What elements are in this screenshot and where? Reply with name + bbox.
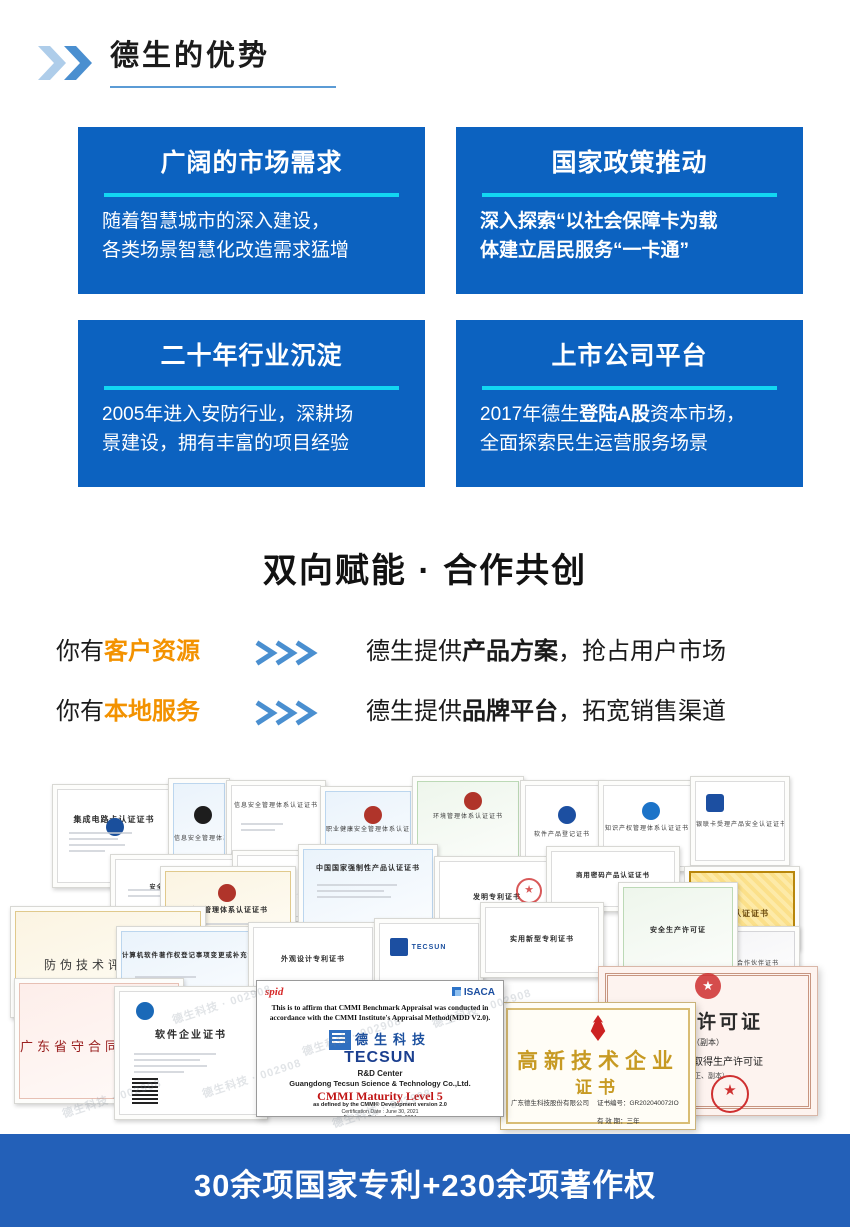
section-header: 德生的优势 <box>0 34 850 94</box>
certificate-title: 环境管理体系认证证书 <box>418 811 518 820</box>
hitech-validity-label: 有 效 期： <box>597 1118 627 1125</box>
synergy-right-prefix: 德生提供 <box>366 638 462 665</box>
cmmi-affirm-line: This is to affirm that CMMI Benchmark Ap… <box>265 1003 495 1013</box>
triple-chevron-icon <box>253 692 353 732</box>
certificate-title: 职业健康安全管理体系认证证书 <box>326 824 410 833</box>
certificate-title: 中国国家强制性产品认证证书 <box>304 863 432 873</box>
synergy-right-bold: 产品方案 <box>462 638 558 665</box>
card-title: 国家政策推动 <box>456 147 803 179</box>
cmmi-rd-center: R&D Center <box>257 1069 503 1078</box>
certificate-collage: 集成电路卡认证证书 信息安全管理体系认证证书 信息安全管理体系认证证书 职业健康… <box>0 770 850 1134</box>
card-title: 上市公司平台 <box>456 340 803 372</box>
synergy-left-prefix: 你有 <box>56 698 104 725</box>
certificate-title: 软件产品登记证书 <box>526 829 598 838</box>
hitech-enterprise-certificate: 高新技术企业 证书 广东德生科技股份有限公司 证书编号：GR202040072I… <box>500 1002 696 1130</box>
cmmi-exp-date: Expiration Date : June 30, 2024 <box>257 1115 503 1117</box>
certificate-title: 银联卡受理产品安全认证证书 <box>696 819 784 828</box>
hitech-title-line1: 高新技术企业 <box>501 1045 695 1075</box>
synergy-left-highlight: 客户资源 <box>104 638 200 665</box>
tecsun-brand-en: TECSUN <box>257 1049 503 1067</box>
bottom-banner: 30余项国家专利+230余项著作权 <box>0 1134 850 1227</box>
synergy-title: 双向赋能 · 合作共创 <box>0 543 850 592</box>
synergy-right-suffix: ，抢占用户市场 <box>558 638 726 665</box>
isaca-label: ISACA <box>464 987 495 998</box>
cmmi-certificate: spid ISACA This is to affirm that CMMI B… <box>256 980 504 1117</box>
advantage-card-grid: 广阔的市场需求 随着智慧城市的深入建设， 各类场景智慧化改造需求猛增 国家政策推… <box>78 127 772 465</box>
card-body-line: 全面探索民生运营服务场景 <box>480 429 783 458</box>
triple-chevron-icon <box>253 632 353 672</box>
banner-text: 30余项国家专利+230余项著作权 <box>0 1160 850 1205</box>
certificate-title: 软件企业证书 <box>120 1026 262 1041</box>
synergy-row: 你有本地服务 德生提供品牌平台，拓宽销售渠道 <box>0 692 850 732</box>
card-body-text: 资本市场， <box>650 404 745 425</box>
title-underline <box>110 86 336 88</box>
certificate-title: 商用密码产品认证证书 <box>552 870 674 879</box>
certificate-title: 外观设计专利证书 <box>254 954 372 964</box>
advantage-card: 广阔的市场需求 随着智慧城市的深入建设， 各类场景智慧化改造需求猛增 <box>78 127 425 294</box>
cmmi-dates: Certification Date : June 30, 2021 Expir… <box>257 1109 503 1117</box>
certificate-tile: 软件企业证书 <box>114 986 268 1120</box>
card-title: 广阔的市场需求 <box>78 147 425 179</box>
card-body: 深入探索“以社会保障卡为载 体建立居民服务“一卡通” <box>480 207 783 265</box>
advantage-card: 二十年行业沉淀 2005年进入安防行业，深耕场 景建设，拥有丰富的项目经验 <box>78 320 425 487</box>
card-title: 二十年行业沉淀 <box>78 340 425 372</box>
synergy-right-suffix: ，拓宽销售渠道 <box>558 698 726 725</box>
certificate-title: 安全生产许可证 <box>624 925 732 935</box>
advantage-card: 国家政策推动 深入探索“以社会保障卡为载 体建立居民服务“一卡通” <box>456 127 803 294</box>
hitech-validity-value: 三年 <box>627 1118 640 1125</box>
hitech-cert-no: 证书编号：GR202040072IO <box>597 1099 679 1109</box>
card-body-text: 2017年德生 <box>480 404 579 425</box>
card-body-line: 2017年德生登陆A股资本市场， <box>480 400 783 429</box>
synergy-left-prefix: 你有 <box>56 638 104 665</box>
certificate-tile: 实用新型专利证书 <box>480 902 604 978</box>
card-divider <box>482 386 777 390</box>
synergy-right-prefix: 德生提供 <box>366 698 462 725</box>
chevron-group <box>36 44 104 82</box>
isaca-mark-icon <box>452 987 461 996</box>
certificate-tile: 银联卡受理产品安全认证证书 <box>690 776 790 866</box>
card-body: 2017年德生登陆A股资本市场， 全面探索民生运营服务场景 <box>480 400 783 458</box>
card-body-line: 随着智慧城市的深入建设， <box>102 207 405 236</box>
card-divider <box>104 193 399 197</box>
card-divider <box>482 193 777 197</box>
synergy-left-highlight: 本地服务 <box>104 698 200 725</box>
tecsun-brand: 德生科技 TECSUN <box>257 1029 503 1067</box>
hitech-cert-no-value: GR202040072IO <box>630 1100 679 1107</box>
spid-logo: spid <box>265 986 283 998</box>
advantage-card: 上市公司平台 2017年德生登陆A股资本市场， 全面探索民生运营服务场景 <box>456 320 803 487</box>
card-body-line: 深入探索“以社会保障卡为载 <box>480 207 783 236</box>
card-body: 随着智慧城市的深入建设， 各类场景智慧化改造需求猛增 <box>102 207 405 265</box>
certificate-title: 信息安全管理体系认证证书 <box>232 800 320 809</box>
synergy-right: 德生提供产品方案，抢占用户市场 <box>366 632 726 672</box>
card-body-line: 2005年进入安防行业，深耕场 <box>102 400 405 429</box>
hitech-company: 广东德生科技股份有限公司 <box>511 1099 589 1109</box>
card-body-line: 各类场景智慧化改造需求猛增 <box>102 236 405 265</box>
cmmi-affirmation: This is to affirm that CMMI Benchmark Ap… <box>265 1003 495 1023</box>
card-divider <box>104 386 399 390</box>
certificate-title: 计算机软件著作权登记事项变更或补充证明 <box>122 950 250 959</box>
certificate-tile: 安全生产许可证 <box>618 882 738 978</box>
tecsun-logo-icon <box>329 1030 351 1050</box>
certificate-title: 信息安全管理体系认证证书 <box>174 833 224 842</box>
cmmi-company: Guangdong Tecsun Science & Technology Co… <box>257 1079 503 1088</box>
certificate-title: 知识产权管理体系认证证书 <box>604 823 690 832</box>
page-title: 德生的优势 <box>110 34 270 78</box>
synergy-right-bold: 品牌平台 <box>462 698 558 725</box>
card-body: 2005年进入安防行业，深耕场 景建设，拥有丰富的项目经验 <box>102 400 405 458</box>
card-body-line: 体建立居民服务“一卡通” <box>480 236 783 265</box>
isaca-logo: ISACA <box>452 987 495 998</box>
certificate-title: 实用新型专利证书 <box>486 934 598 944</box>
hitech-title-line2: 证书 <box>501 1073 695 1098</box>
chevron-right-icon <box>62 44 96 82</box>
cmmi-defined-by: as defined by the CMMI® Development vers… <box>257 1102 503 1108</box>
national-emblem-icon <box>695 973 721 999</box>
card-body-emphasis: 登陆A股 <box>579 404 650 425</box>
synergy-right: 德生提供品牌平台，拓宽销售渠道 <box>366 692 726 732</box>
tecsun-brand-cn: 德生科技 <box>355 1032 431 1047</box>
hitech-cert-no-label: 证书编号： <box>597 1100 630 1107</box>
synergy-row: 你有客户资源 德生提供产品方案，抢占用户市场 <box>0 632 850 672</box>
cmmi-affirm-line: accordance with the CMMI Institute's App… <box>265 1013 495 1023</box>
card-body-line: 景建设，拥有丰富的项目经验 <box>102 429 405 458</box>
page-root: 德生的优势 广阔的市场需求 随着智慧城市的深入建设， 各类场景智慧化改造需求猛增… <box>0 0 850 1227</box>
hitech-validity: 有 效 期：三年 <box>597 1115 640 1125</box>
official-seal-icon <box>711 1075 749 1113</box>
